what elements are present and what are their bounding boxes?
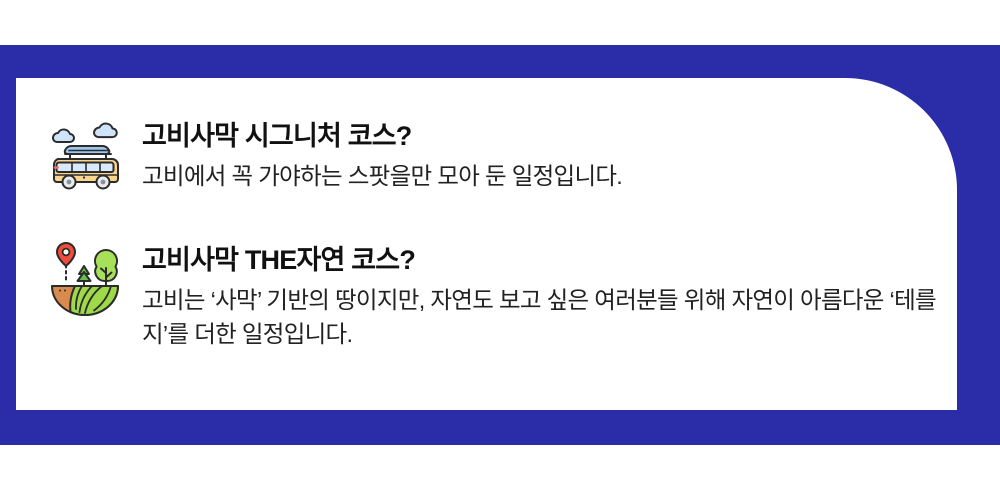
list-item-description: 고비는 ‘사막’ 기반의 땅이지만, 자연도 보고 싶은 여러분들 위해 자연이… bbox=[142, 283, 947, 351]
white-content-card: 고비사막 시그니처 코스? 고비에서 꼭 가야하는 스팟을만 모아 둔 일정입니… bbox=[16, 78, 957, 410]
list-item-texts: 고비사막 THE자연 코스? 고비는 ‘사막’ 기반의 땅이지만, 자연도 보고… bbox=[142, 240, 947, 351]
list-item-texts: 고비사막 시그니처 코스? 고비에서 꼭 가야하는 스팟을만 모아 둔 일정입니… bbox=[142, 118, 947, 193]
blue-banner-frame: 고비사막 시그니처 코스? 고비에서 꼭 가야하는 스팟을만 모아 둔 일정입니… bbox=[0, 45, 1000, 445]
list-item-description: 고비에서 꼭 가야하는 스팟을만 모아 둔 일정입니다. bbox=[142, 159, 947, 193]
list-item-title: 고비사막 시그니처 코스? bbox=[142, 120, 947, 153]
list-item-title: 고비사막 THE자연 코스? bbox=[142, 244, 947, 277]
list-item: 고비사막 시그니처 코스? 고비에서 꼭 가야하는 스팟을만 모아 둔 일정입니… bbox=[46, 118, 947, 198]
list-item: 고비사막 THE자연 코스? 고비는 ‘사막’ 기반의 땅이지만, 자연도 보고… bbox=[46, 240, 947, 351]
nature-landscape-icon bbox=[46, 240, 124, 318]
camper-van-icon bbox=[46, 120, 124, 198]
course-list: 고비사막 시그니처 코스? 고비에서 꼭 가야하는 스팟을만 모아 둔 일정입니… bbox=[46, 118, 947, 351]
